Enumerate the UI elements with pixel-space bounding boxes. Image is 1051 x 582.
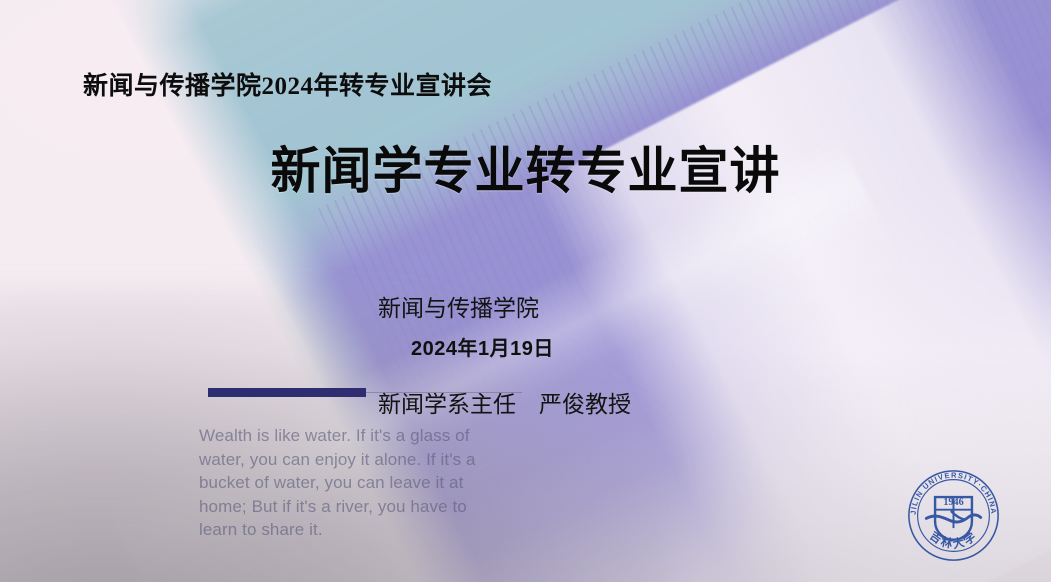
accent-rule	[208, 388, 522, 397]
university-logo: JILIN UNIVERSITY·CHINA 1946 吉林大学	[905, 467, 1002, 564]
svg-text:吉林大学: 吉林大学	[927, 528, 980, 551]
slide-title: 新闻学专业转专业宣讲	[0, 131, 1051, 203]
presenter-organization: 新闻与传播学院	[378, 292, 631, 324]
quote-text: Wealth is like water. If it's a glass of…	[199, 424, 499, 542]
slide-date: 2024年1月19日	[411, 332, 554, 361]
accent-bar	[208, 388, 366, 397]
accent-thin-line	[366, 392, 522, 393]
slide-header: 新闻与传播学院2024年转专业宣讲会	[83, 66, 492, 102]
logo-chinese-name: 吉林大学	[927, 528, 980, 551]
presentation-slide: 新闻与传播学院2024年转专业宣讲会 新闻学专业转专业宣讲 新闻与传播学院 新闻…	[0, 0, 1051, 582]
logo-year: 1946	[943, 497, 963, 508]
